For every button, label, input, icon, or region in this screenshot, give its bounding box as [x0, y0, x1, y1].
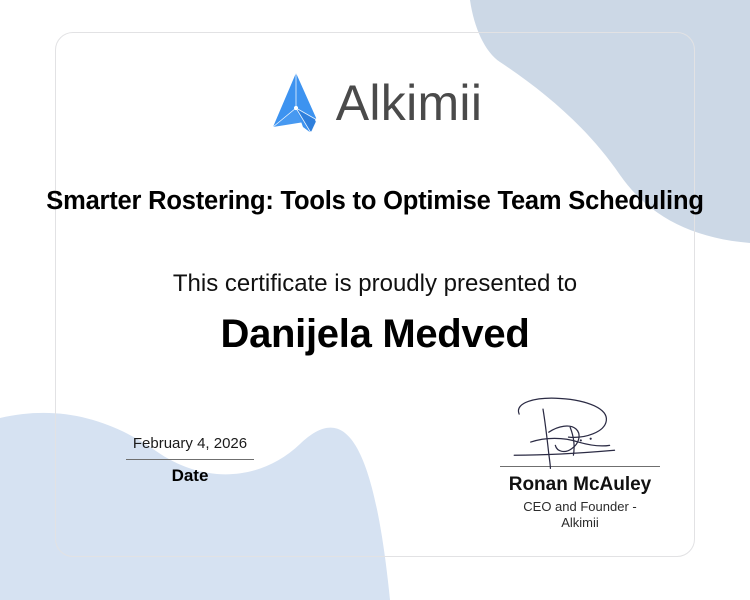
- certificate-content: Alkimii Smarter Rostering: Tools to Opti…: [0, 0, 750, 600]
- brand-wordmark: Alkimii: [336, 78, 483, 128]
- recipient-name: Danijela Medved: [0, 310, 750, 358]
- date-block: February 4, 2026 Date: [110, 434, 270, 486]
- signature-divider: [500, 466, 660, 467]
- signatory-name: Ronan McAuley: [480, 474, 680, 496]
- date-label: Date: [110, 466, 270, 486]
- alkimii-arrow-logo-icon: [268, 72, 324, 134]
- signatory-title-line-1: CEO and Founder -: [480, 499, 680, 515]
- signatory-title: CEO and Founder - Alkimii: [480, 499, 680, 532]
- date-value: February 4, 2026: [110, 434, 270, 454]
- course-title: Smarter Rostering: Tools to Optimise Tea…: [0, 186, 750, 217]
- date-divider: [126, 459, 254, 460]
- brand-lockup: Alkimii: [0, 72, 750, 134]
- signatory-title-line-2: Alkimii: [480, 515, 680, 531]
- handwritten-signature-icon: [495, 396, 665, 470]
- presented-to-line: This certificate is proudly presented to: [0, 270, 750, 299]
- certificate-page: Alkimii Smarter Rostering: Tools to Opti…: [0, 0, 750, 600]
- signature-block: Ronan McAuley CEO and Founder - Alkimii: [480, 396, 680, 531]
